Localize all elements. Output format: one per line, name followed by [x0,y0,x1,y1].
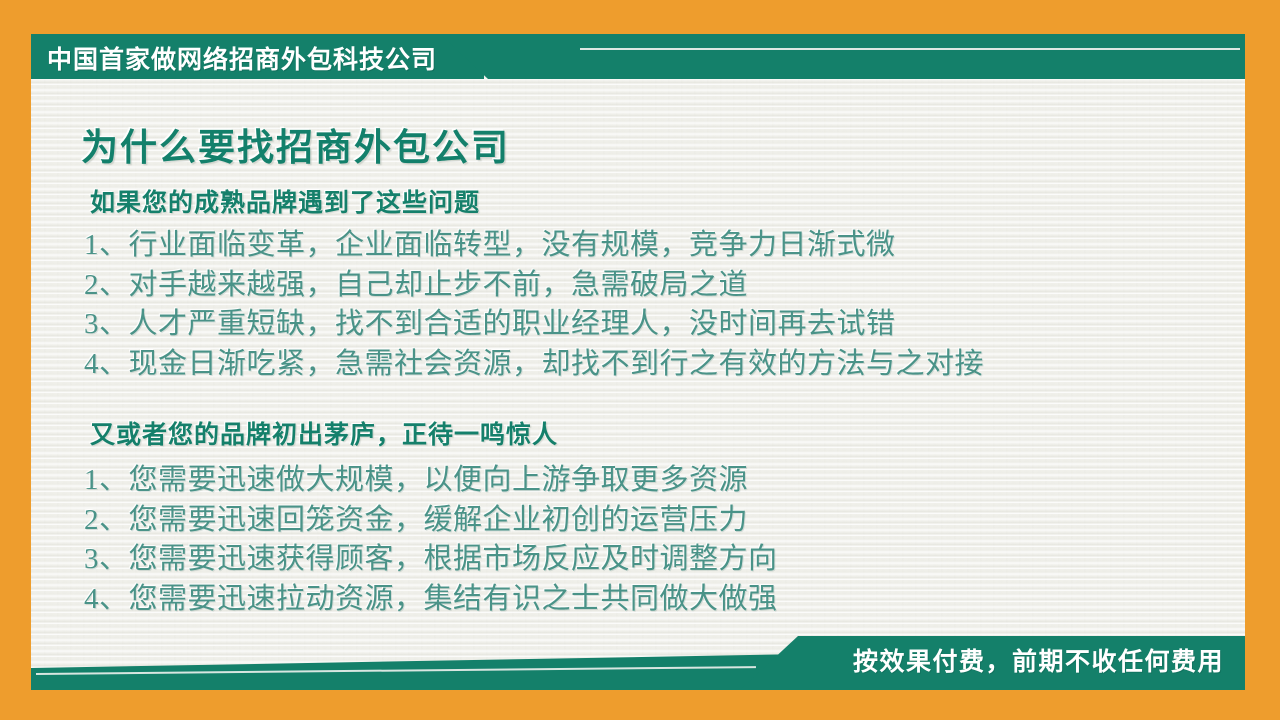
list-item: 1、您需要迅速做大规模，以便向上游争取更多资源 [84,461,778,501]
problem-list-mature-brand: 1、行业面临变革，企业面临转型，没有规模，竞争力日渐式微 2、对手越来越强，自己… [84,226,984,384]
page-title: 为什么要找招商外包公司 [81,117,510,171]
footer-note: 按效果付费，前期不收任何费用 [853,642,1224,678]
orange-frame-bottom [0,690,1280,720]
header-tagline: 中国首家做网络招商外包科技公司 [47,40,437,76]
slide-root: 中国首家做网络招商外包科技公司 为什么要找招商外包公司 如果您的成熟品牌遇到了这… [0,0,1280,720]
need-list-new-brand: 1、您需要迅速做大规模，以便向上游争取更多资源 2、您需要迅速回笼资金，缓解企业… [84,461,778,619]
section-heading-mature-brand: 如果您的成熟品牌遇到了这些问题 [90,183,480,219]
header-hairline-rule [580,48,1240,50]
list-item: 3、您需要迅速获得顾客，根据市场反应及时调整方向 [84,540,778,580]
orange-frame-right [1245,0,1280,720]
header-band-tapered [440,34,1245,79]
orange-frame-left [0,0,31,720]
list-item: 4、现金日渐吃紧，急需社会资源，却找不到行之有效的方法与之对接 [84,345,984,385]
list-item: 2、您需要迅速回笼资金，缓解企业初创的运营压力 [84,501,778,541]
list-item: 2、对手越来越强，自己却止步不前，急需破局之道 [84,266,984,306]
list-item: 4、您需要迅速拉动资源，集结有识之士共同做大做强 [84,580,778,620]
section-heading-new-brand: 又或者您的品牌初出茅庐，正待一鸣惊人 [90,415,558,451]
list-item: 1、行业面临变革，企业面临转型，没有规模，竞争力日渐式微 [84,226,984,266]
orange-frame-top [0,0,1280,34]
list-item: 3、人才严重短缺，找不到合适的职业经理人，没时间再去试错 [84,305,984,345]
